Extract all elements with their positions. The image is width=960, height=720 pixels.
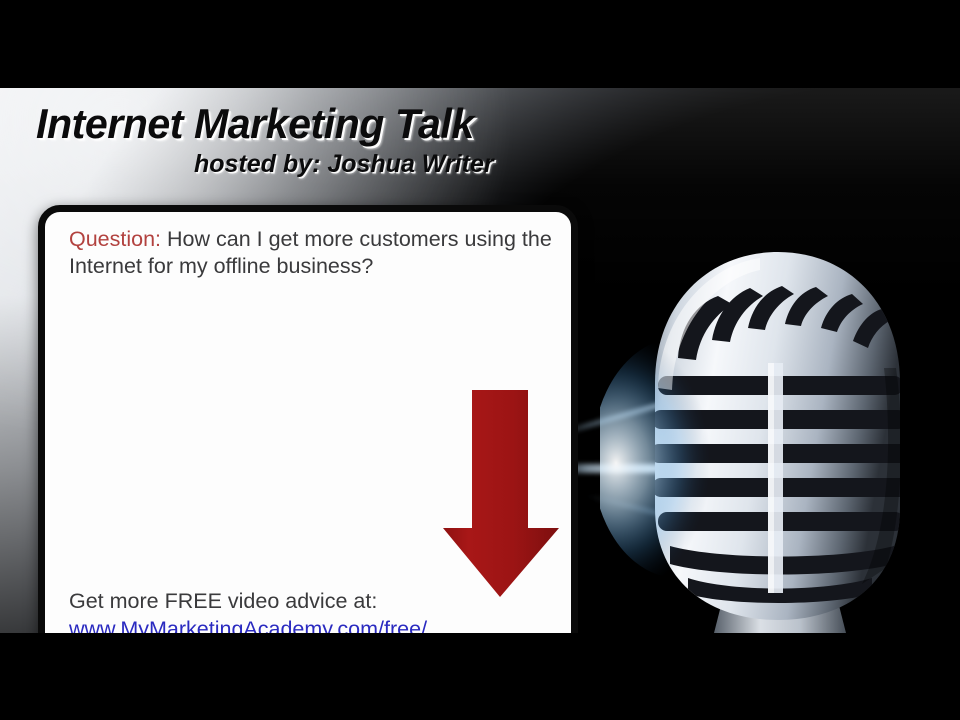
cta-text: Get more FREE video advice at: — [69, 588, 377, 615]
down-arrow-icon — [441, 388, 561, 600]
question-text: Question: How can I get more customers u… — [69, 226, 553, 280]
question-card-inner: Question: How can I get more customers u… — [45, 212, 571, 633]
cta-url-link[interactable]: www.MyMarketingAcademy.com/free/ — [69, 616, 427, 633]
letterbox-bar-top — [0, 0, 960, 88]
letterbox-bar-bottom — [0, 633, 960, 720]
question-label: Question: — [69, 227, 161, 251]
video-content-area: Internet Marketing Talk hosted by: Joshu… — [0, 88, 960, 633]
question-card: Question: How can I get more customers u… — [38, 205, 578, 633]
microphone-icon — [600, 208, 960, 633]
host-subtitle: hosted by: Joshua Writer — [194, 150, 494, 179]
video-frame: Internet Marketing Talk hosted by: Joshu… — [0, 0, 960, 720]
page-title: Internet Marketing Talk — [36, 100, 474, 148]
